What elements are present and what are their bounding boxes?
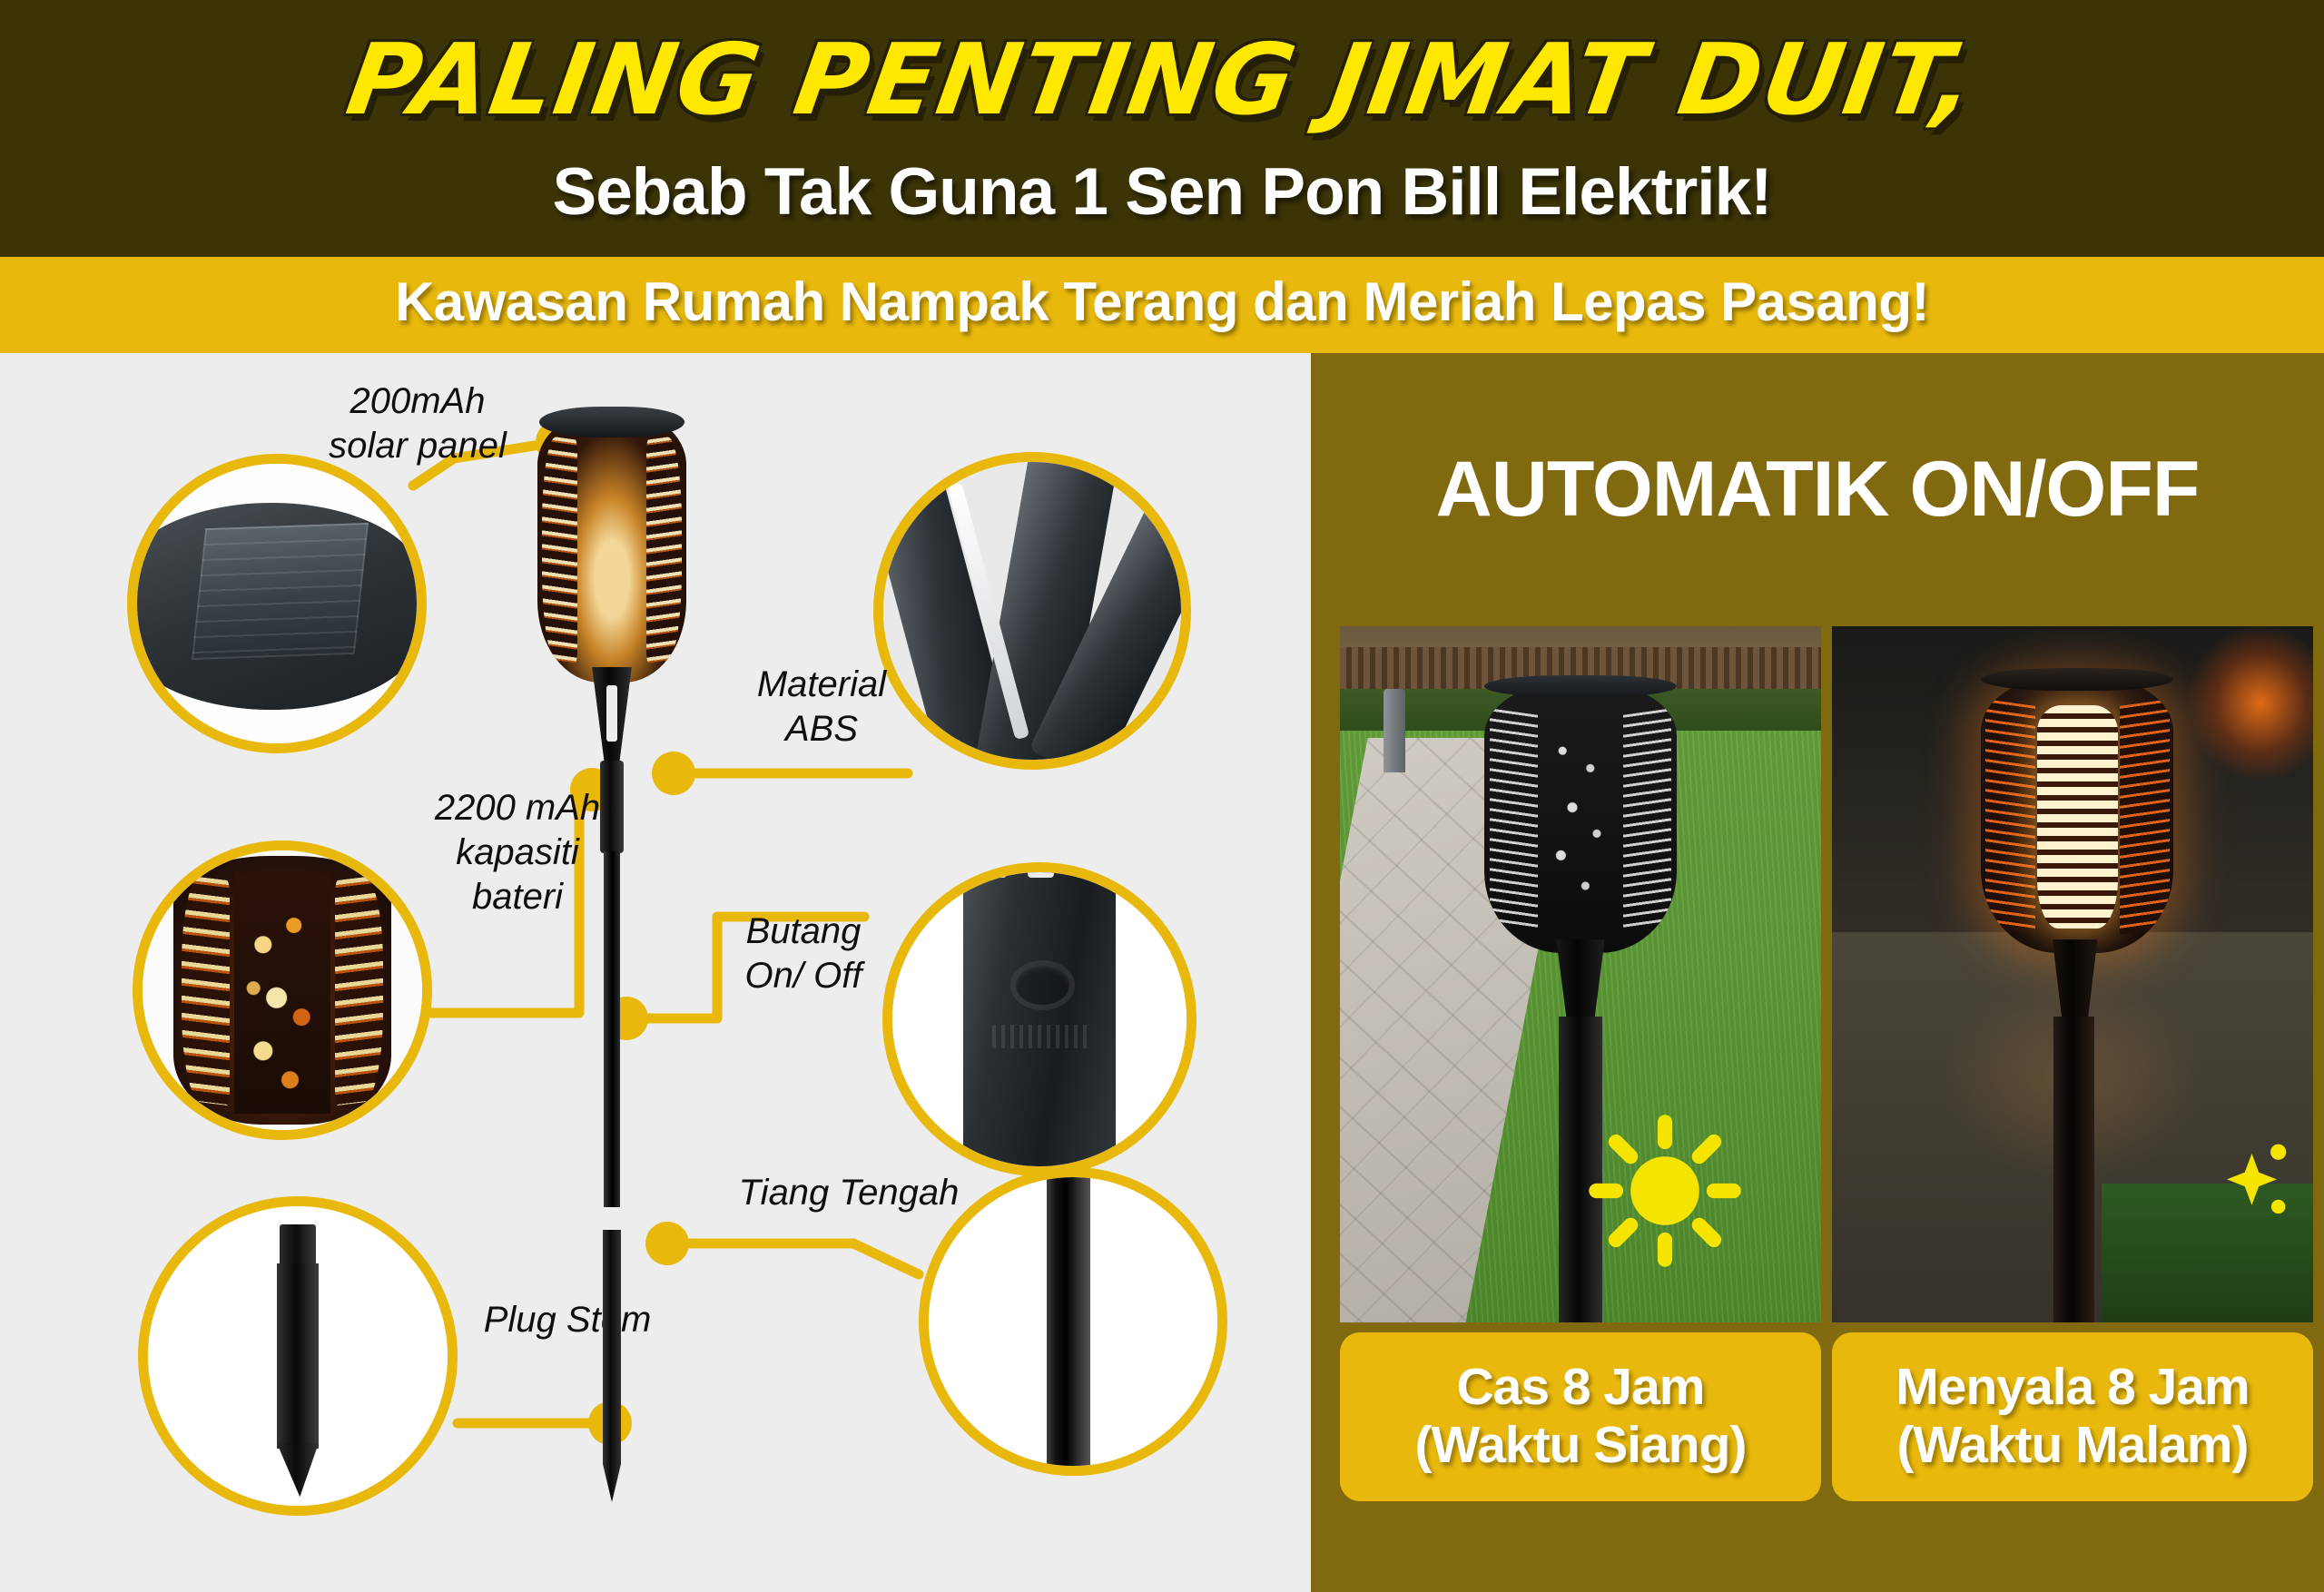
- callout-label-solar-panel: 200mAh solar panel: [272, 379, 563, 468]
- stake-shaft-shape: [277, 1263, 319, 1450]
- night-lamp-flame-core: [2037, 705, 2118, 928]
- callout-label-center-pole: Tiang Tengah: [699, 1171, 999, 1215]
- stake-collar-shape: [280, 1224, 316, 1266]
- header-subbar-text: Kawasan Rumah Nampak Terang dan Meriah L…: [0, 270, 2324, 333]
- night-lamp-pole: [2053, 1017, 2094, 1322]
- day-bollard: [1384, 689, 1405, 772]
- headline-primary: PALING PENTING JIMAT DUIT,: [0, 31, 2324, 131]
- button-notch-mid: [1028, 862, 1054, 878]
- flame-lantern-photo: [143, 850, 422, 1130]
- solar-panel-photo: [137, 464, 417, 743]
- product-collar: [600, 761, 624, 853]
- caption-text-daytime: Cas 8 Jam (Waktu Siang): [1415, 1359, 1747, 1475]
- callout-label-power-button: Butang On/ Off: [690, 909, 917, 998]
- flame-body-shape: [173, 856, 391, 1125]
- caption-box-nighttime: Menyala 8 Jam (Waktu Malam): [1832, 1332, 2313, 1501]
- flame-core-pattern: [234, 872, 330, 1114]
- plug-stem-photo: [148, 1206, 448, 1506]
- night-lamp-head: [1981, 675, 2173, 954]
- night-background-glow: [2188, 626, 2313, 780]
- photo-card-daytime: [1340, 626, 1821, 1322]
- automatic-onoff-title: AUTOMATIK ON/OFF: [1311, 445, 2324, 535]
- infographic-page: PALING PENTING JIMAT DUIT, Sebab Tak Gun…: [0, 0, 2324, 1592]
- moon-icon: [2121, 1125, 2299, 1282]
- caption-box-daytime: Cas 8 Jam (Waktu Siang): [1340, 1332, 1821, 1501]
- callout-label-material-abs: Material ABS: [708, 663, 935, 752]
- product-solar-top: [539, 407, 684, 437]
- center-pole-photo: [929, 1177, 1217, 1466]
- callout-image-plug-stem: [138, 1196, 458, 1516]
- product-center-pole: [604, 851, 620, 1207]
- solar-cell-shape: [192, 523, 369, 660]
- product-torch-head: [537, 410, 686, 683]
- power-button-photo: [892, 872, 1187, 1166]
- product-ground-stake: [603, 1230, 621, 1502]
- flame-ribs-left: [182, 875, 230, 1106]
- flame-ribs-right: [335, 875, 383, 1106]
- callout-image-power-button: [882, 862, 1196, 1176]
- day-lamp-solar-top: [1484, 675, 1677, 698]
- headline-secondary: Sebab Tak Guna 1 Sen Pon Bill Elektrik!: [0, 159, 2324, 225]
- button-tube-shape: [963, 862, 1116, 1176]
- callout-label-plug-stem: Plug Stem: [454, 1298, 681, 1342]
- pole-rod-shape: [1047, 1167, 1090, 1476]
- product-neck-slot: [606, 685, 617, 742]
- callout-image-solar-panel: [127, 454, 427, 753]
- power-button-emboss-text: [992, 1025, 1092, 1048]
- night-lamp-solar-top: [1981, 668, 2173, 691]
- power-button-circle: [1010, 960, 1075, 1010]
- day-lamp-swirl-pattern: [1540, 712, 1620, 929]
- callout-image-battery: [133, 840, 432, 1140]
- caption-text-nighttime: Menyala 8 Jam (Waktu Malam): [1896, 1359, 2249, 1475]
- day-lamp-head: [1484, 682, 1677, 953]
- sun-icon: [1583, 1109, 1747, 1273]
- stake-tip-shape: [277, 1443, 319, 1497]
